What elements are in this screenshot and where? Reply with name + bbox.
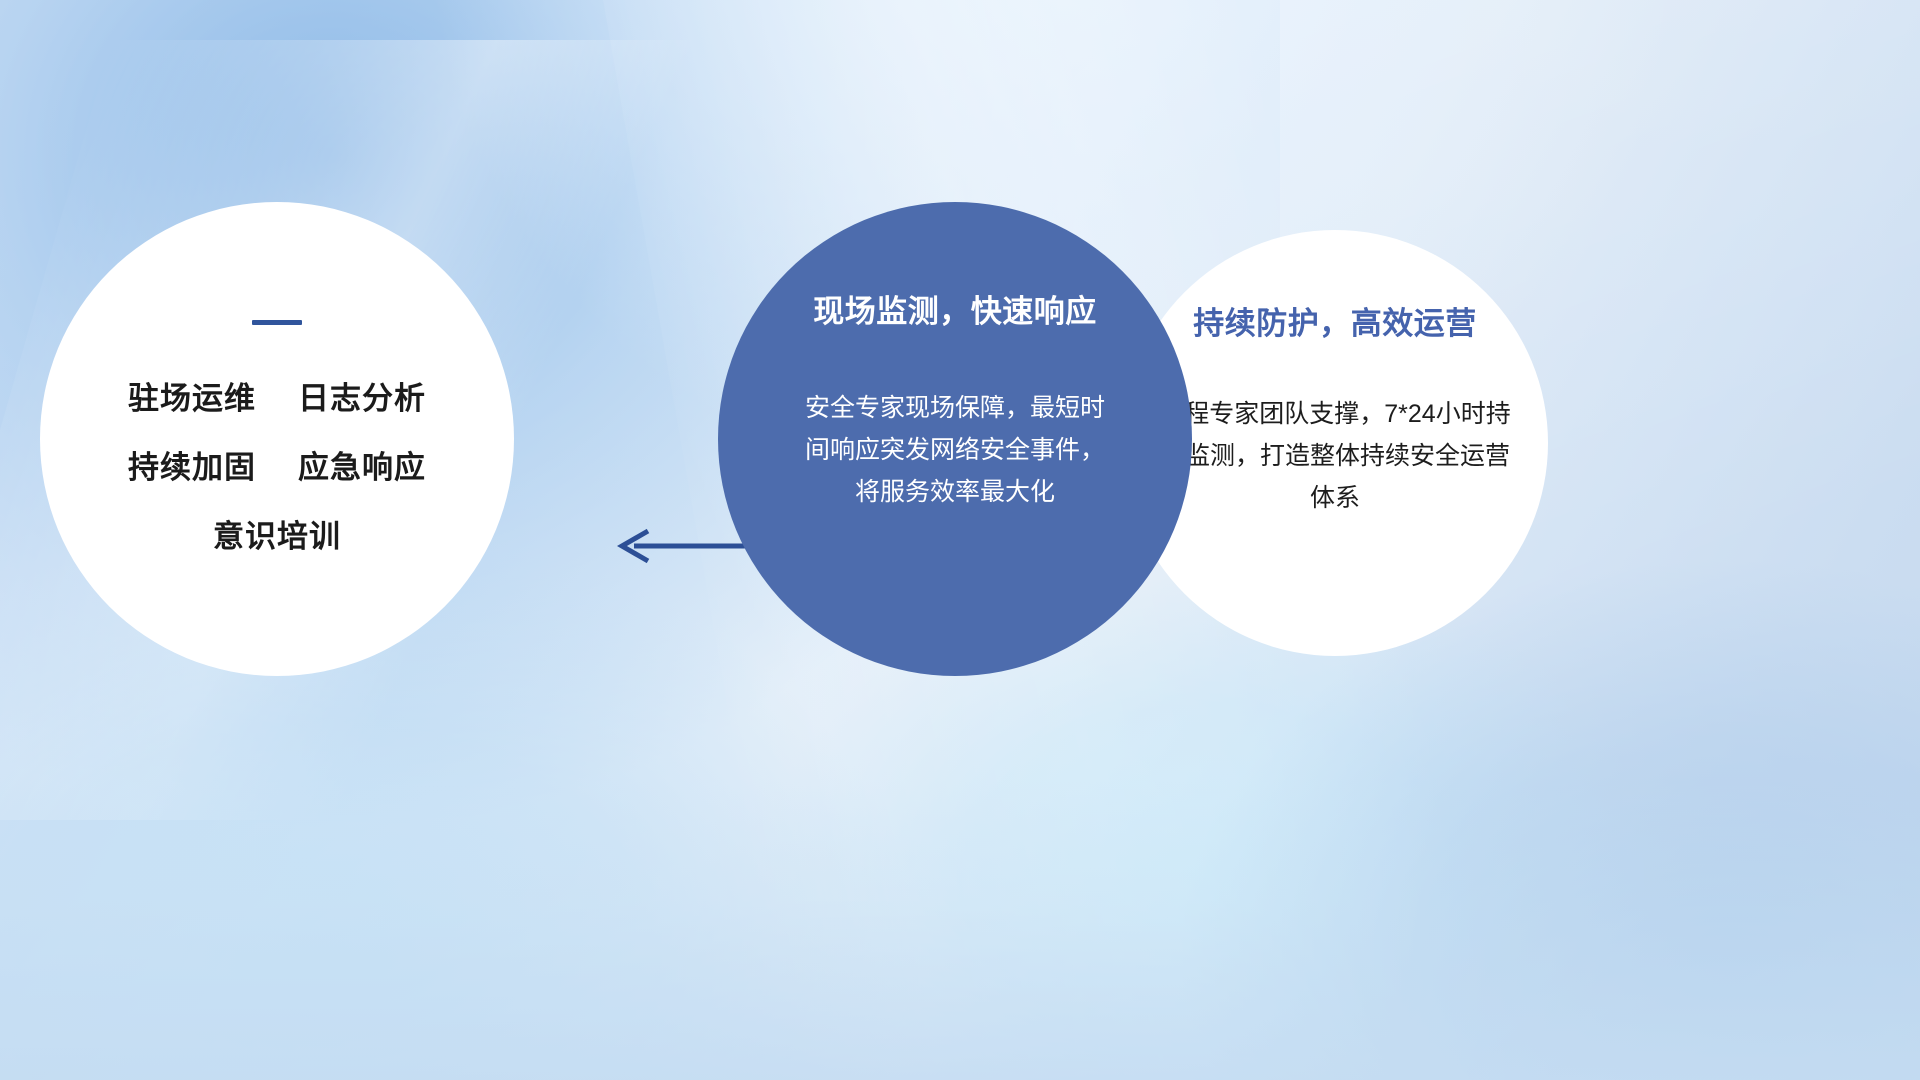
capability-item: 日志分析 [298, 373, 426, 418]
divider-dash [252, 320, 302, 325]
onsite-monitoring-body: 安全专家现场保障，最短时间响应突发网络安全事件，将服务效率最大化 [800, 387, 1110, 513]
capabilities-circle[interactable]: 驻场运维 日志分析 持续加固 应急响应 意识培训 [40, 202, 514, 676]
capabilities-list: 驻场运维 日志分析 持续加固 应急响应 意识培训 [128, 373, 426, 556]
capabilities-content: 驻场运维 日志分析 持续加固 应急响应 意识培训 [40, 202, 514, 676]
onsite-monitoring-content: 现场监测，快速响应 安全专家现场保障，最短时间响应突发网络安全事件，将服务效率最… [718, 202, 1192, 676]
slide-canvas: 驻场运维 日志分析 持续加固 应急响应 意识培训 持续防护，高效运营 远程专家团… [0, 0, 1920, 1080]
onsite-monitoring-circle[interactable]: 现场监测，快速响应 安全专家现场保障，最短时间响应突发网络安全事件，将服务效率最… [718, 202, 1192, 676]
capabilities-row: 持续加固 应急响应 [128, 442, 426, 487]
capabilities-row: 驻场运维 日志分析 [128, 373, 426, 418]
onsite-monitoring-title: 现场监测，快速响应 [813, 286, 1097, 331]
capability-item: 持续加固 [128, 442, 256, 487]
capabilities-row: 意识培训 [213, 511, 341, 556]
capability-item: 应急响应 [298, 442, 426, 487]
continuous-protection-title: 持续防护，高效运营 [1193, 298, 1477, 343]
capability-item: 驻场运维 [128, 373, 256, 418]
capability-item: 意识培训 [213, 511, 341, 556]
background-bottom-haze [0, 780, 1920, 1080]
continuous-protection-body: 远程专家团队支撑，7*24小时持续监测，打造整体持续安全运营体系 [1151, 393, 1519, 519]
